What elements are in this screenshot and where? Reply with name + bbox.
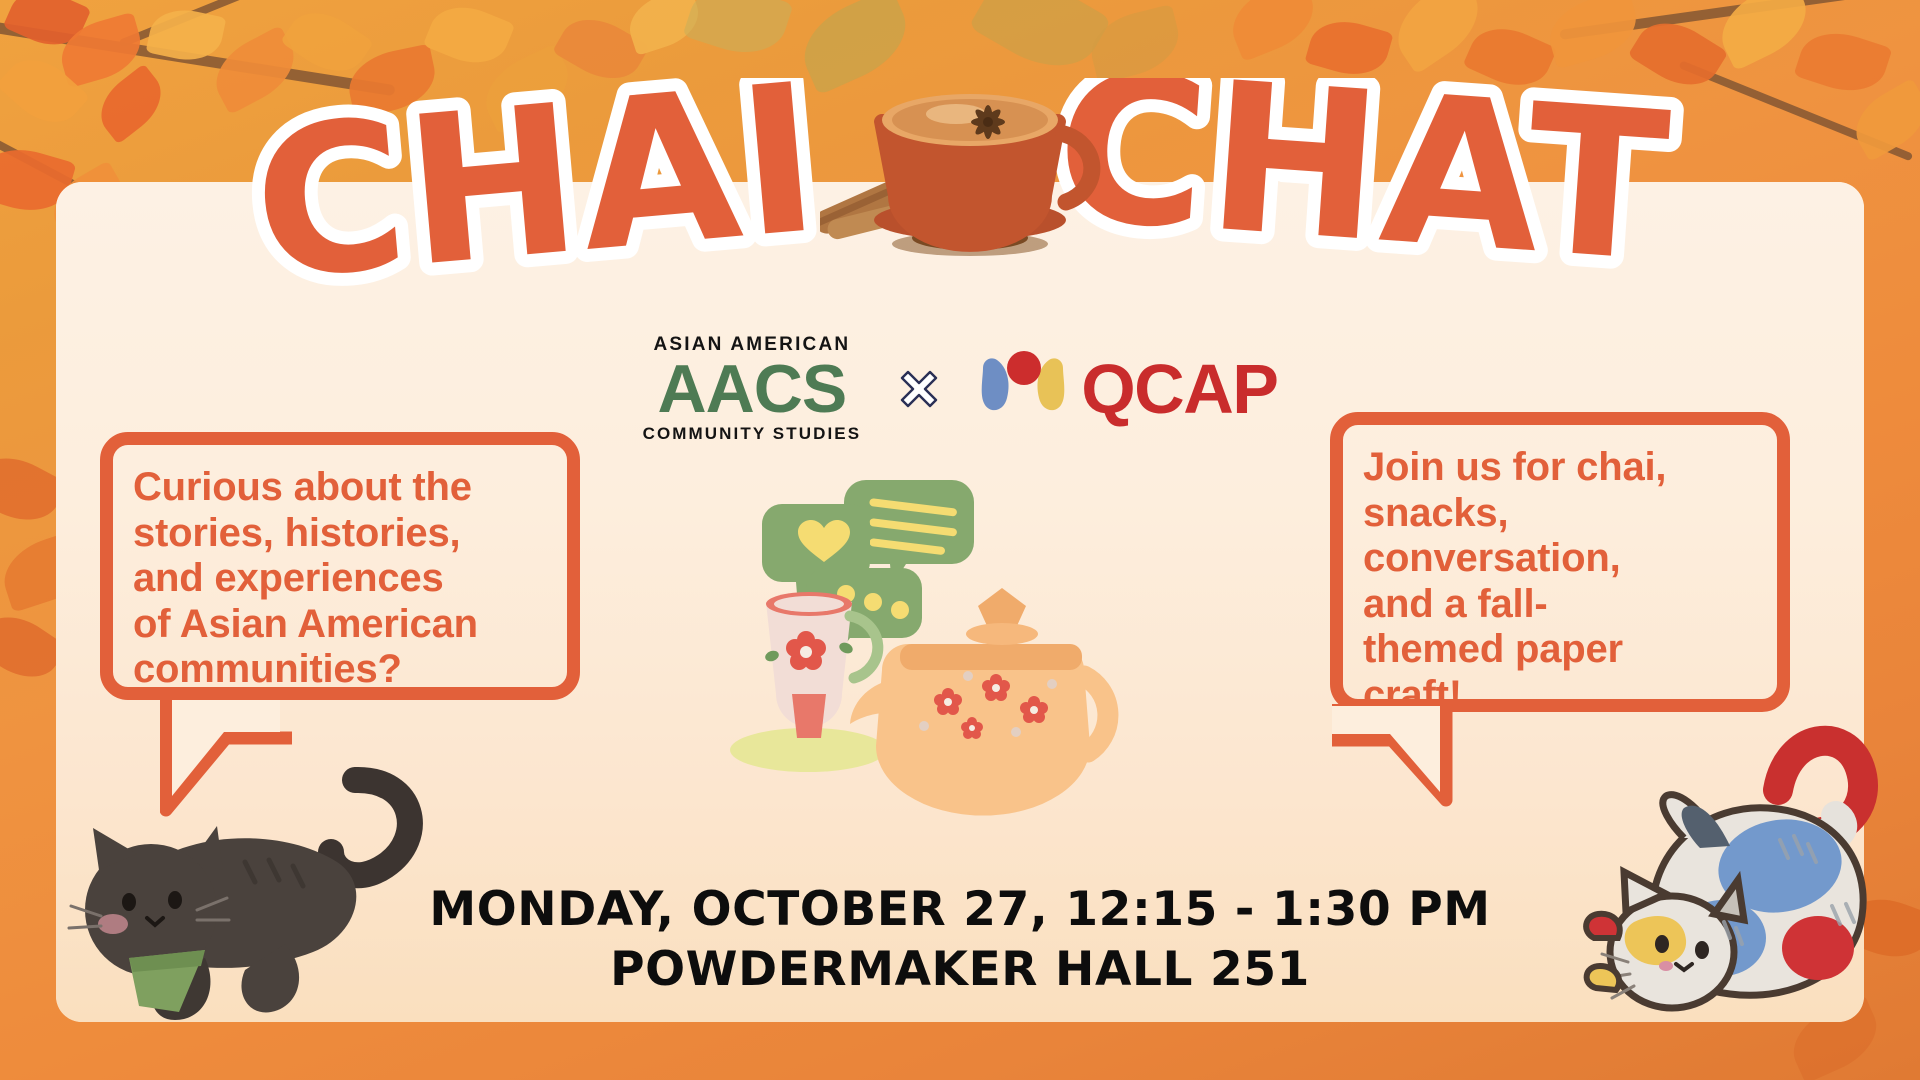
speech-bubble-left: Curious about the stories, histories, an… [100, 432, 580, 700]
chai-cup-illustration [820, 48, 1110, 258]
speech-bubble-right-tail [1330, 704, 1510, 824]
speech-bubble-right: Join us for chai, snacks, conversation, … [1330, 412, 1790, 712]
aacs-logo[interactable]: ASIAN AMERICAN AACS COMMUNITY STUDIES [643, 335, 862, 442]
speech-bubble-right-text: Join us for chai, snacks, conversation, … [1343, 425, 1777, 719]
teapot-illustration [850, 588, 1108, 816]
aacs-tagline-bottom: COMMUNITY STUDIES [643, 425, 862, 442]
teacup-illustration [730, 592, 886, 772]
partner-logos: ASIAN AMERICAN AACS COMMUNITY STUDIES QC… [0, 335, 1920, 442]
qcap-logo[interactable]: QCAP [977, 348, 1277, 430]
x-collab-icon [895, 365, 943, 413]
qcap-wordmark: QCAP [1081, 349, 1277, 429]
flyer-canvas: CHAI CHAT [0, 0, 1920, 1080]
calico-cat-illustration [1580, 700, 1910, 1030]
aacs-acronym: AACS [643, 355, 862, 423]
qcap-mark-icon [977, 348, 1069, 430]
speech-bubble-left-text: Curious about the stories, histories, an… [113, 445, 567, 693]
teaware-illustration [700, 560, 1180, 820]
black-cat-illustration [55, 720, 455, 1040]
